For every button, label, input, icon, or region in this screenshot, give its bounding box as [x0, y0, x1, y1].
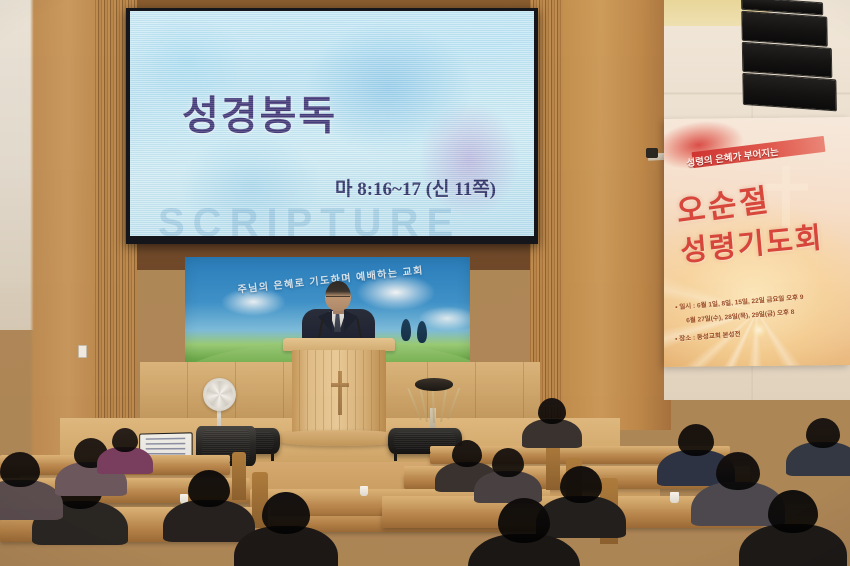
church-sanctuary-photo: SCRIPTURE 성경봉독 마 8:16~17 (신 11쪽) 성령의 은혜가… [0, 0, 850, 566]
attendee-head [498, 498, 550, 543]
plant-stem [432, 386, 435, 423]
mural-tree [401, 319, 411, 341]
projection-screen: SCRIPTURE 성경봉독 마 8:16~17 (신 11쪽) [130, 11, 534, 236]
plant-stems [418, 386, 454, 422]
attendee-head [262, 492, 310, 534]
decorative-plant-bowl [415, 378, 453, 391]
speaker-box [742, 73, 837, 112]
wall-outlet[interactable] [78, 345, 87, 358]
slide-title: 성경봉독 [182, 83, 337, 141]
attendee-head [112, 428, 138, 452]
attendee-head [560, 466, 602, 503]
attendee-head [716, 452, 760, 490]
banner-glow-spot [752, 323, 766, 337]
scripture-watermark: SCRIPTURE [158, 201, 461, 236]
attendee-head [678, 424, 714, 456]
glasses-icon [326, 296, 350, 302]
right-wood-wall [563, 0, 671, 430]
monitor-leg [271, 452, 274, 461]
monitor-leg [394, 452, 397, 461]
cross-icon [331, 371, 349, 415]
attendee-head [538, 398, 566, 424]
pulpit-base [280, 430, 398, 446]
line-array-speaker-cluster [741, 0, 835, 115]
pew-end-cap [232, 452, 246, 500]
attendee-head [768, 490, 818, 533]
speaker-box [742, 42, 833, 78]
attendee-head [0, 452, 40, 487]
paper-cup[interactable] [670, 492, 679, 503]
banner-mount-clamp [646, 148, 658, 158]
attendee-head [452, 440, 482, 467]
slide-scripture-reference: 마 8:16~17 (신 11쪽) [335, 174, 496, 201]
fan-blades [206, 381, 233, 408]
attendee-head [806, 418, 840, 448]
attendee-head [188, 470, 230, 507]
attendee-head [492, 448, 524, 477]
mural-tree [417, 321, 427, 343]
speaker-box [741, 11, 828, 47]
pentecost-prayer-meeting-banner: 성령의 은혜가 부어지는 오순절 성령기도회 • 일시 : 6월 1일, 8일,… [664, 117, 850, 367]
plant-stem [440, 386, 447, 422]
paper-cup[interactable] [360, 486, 368, 496]
